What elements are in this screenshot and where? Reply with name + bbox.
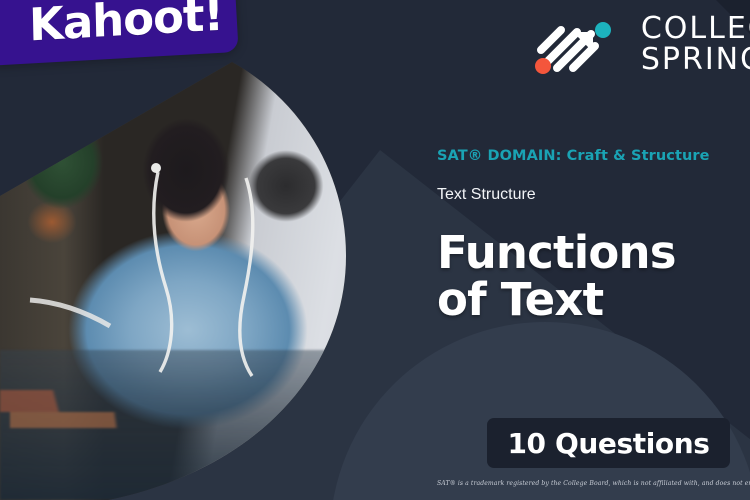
- college-spring-mark-icon: [531, 14, 625, 76]
- topic-subtitle: Text Structure: [437, 186, 737, 204]
- college-spring-wordmark: COLLEGE SPRING: [641, 14, 750, 75]
- kahoot-quiz-cover-slide: Kahoot! COLLEGE SPRING SAT® DOMAIN: Craf…: [0, 0, 750, 500]
- college-spring-line-2: SPRING: [641, 45, 750, 76]
- slide-text-block: SAT® DOMAIN: Craft & Structure Text Stru…: [437, 148, 737, 324]
- college-spring-logo: COLLEGE SPRING: [531, 14, 750, 76]
- question-count-badge: 10 Questions: [487, 418, 730, 468]
- sat-domain-eyebrow: SAT® DOMAIN: Craft & Structure: [437, 148, 737, 164]
- college-spring-line-1: COLLEGE: [641, 14, 750, 45]
- red-dot-icon: [535, 58, 551, 74]
- teal-dot-icon: [595, 22, 611, 38]
- question-count-label: 10 Questions: [507, 427, 709, 460]
- page-title: Functions of Text: [437, 230, 737, 324]
- trademark-disclaimer: SAT® is a trademark registered by the Co…: [437, 480, 750, 487]
